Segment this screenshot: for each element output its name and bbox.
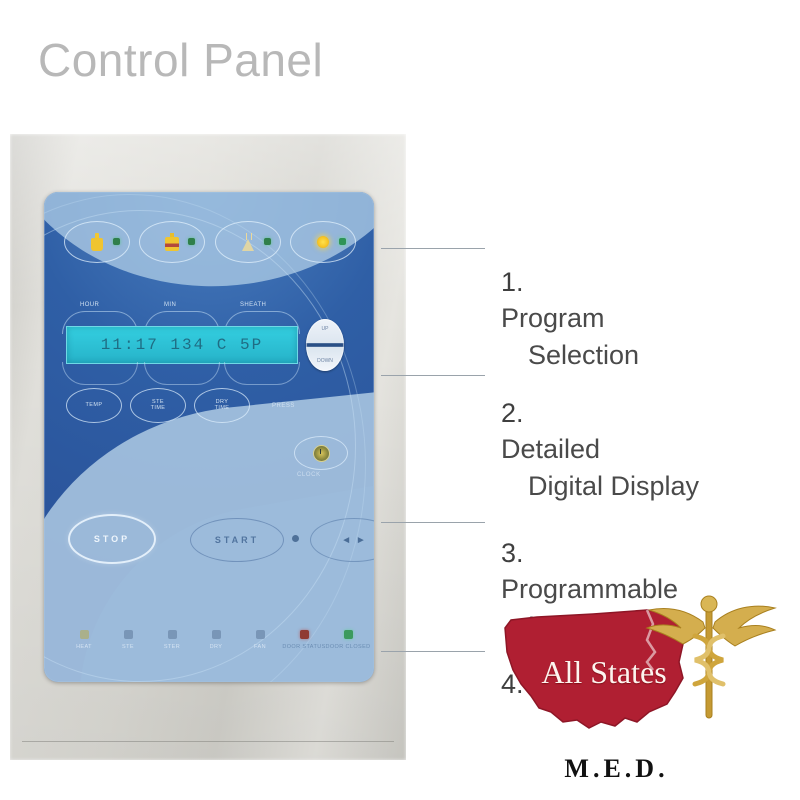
param-key-temp[interactable]: TEMP bbox=[66, 388, 122, 423]
up-down-rocker[interactable]: UP DOWN bbox=[306, 319, 344, 371]
arc-ste bbox=[144, 362, 220, 385]
status-led-ster bbox=[168, 630, 177, 639]
stop-button-label: STOP bbox=[94, 534, 130, 544]
status-led-fan bbox=[256, 630, 265, 639]
arrow-left-right-icon: ◄ ► bbox=[341, 535, 367, 546]
program-key-unwrapped[interactable] bbox=[64, 221, 130, 263]
status-led-ste bbox=[124, 630, 133, 639]
callout-2-number: 2. bbox=[501, 398, 524, 428]
callout-1-number: 1. bbox=[501, 267, 524, 297]
program-selection-row bbox=[64, 218, 356, 266]
parameter-keys-row: TEMP STE TIME DRY TIME PRESS bbox=[66, 388, 295, 423]
callout-2-text: Detailed bbox=[501, 434, 600, 464]
logo-brand-text: All States bbox=[509, 654, 699, 691]
display-label-sheath: SHEATH bbox=[240, 302, 266, 308]
status-led-dry bbox=[212, 630, 221, 639]
program-led-3 bbox=[264, 238, 271, 245]
flask-icon bbox=[241, 233, 255, 251]
wrapped-pouch-icon bbox=[165, 233, 179, 251]
control-keypad: HOUR MIN SHEATH 11:17 134 C 5P UP DOWN T… bbox=[44, 192, 374, 682]
status-led-door-closed bbox=[344, 630, 353, 639]
callout-3-number: 3. bbox=[501, 538, 524, 568]
program-key-wrapped[interactable] bbox=[139, 221, 205, 263]
display-label-min: MIN bbox=[164, 302, 176, 308]
status-indicator-strip: HEAT STE STER DRY FAN DOOR STATUS bbox=[58, 630, 370, 676]
program-key-drying[interactable] bbox=[290, 221, 356, 263]
arc-dry bbox=[224, 362, 300, 385]
param-key-dry-time[interactable]: DRY TIME bbox=[194, 388, 250, 423]
bezel-seam bbox=[22, 741, 394, 742]
param-key-dry-line2: TIME bbox=[215, 406, 230, 412]
status-led-door-status bbox=[300, 630, 309, 639]
param-key-ste-line2: TIME bbox=[151, 406, 166, 412]
page-title: Control Panel bbox=[38, 33, 323, 87]
param-key-ste-time[interactable]: STE TIME bbox=[130, 388, 186, 423]
rocker-down-label: DOWN bbox=[306, 358, 344, 364]
start-button-label: START bbox=[215, 535, 259, 545]
clock-icon bbox=[313, 445, 330, 462]
program-led-2 bbox=[188, 238, 195, 245]
press-label: PRESS bbox=[272, 403, 295, 409]
program-led-4 bbox=[339, 238, 346, 245]
brand-logo: All States M.E.D. bbox=[497, 592, 797, 797]
program-led-1 bbox=[113, 238, 120, 245]
clock-key[interactable] bbox=[294, 436, 348, 470]
logo-sub-text: M.E.D. bbox=[509, 754, 724, 784]
separator-dot bbox=[292, 535, 299, 542]
lcd-value: 11:17 134 C 5P bbox=[101, 336, 263, 354]
leader-line-2 bbox=[381, 375, 485, 376]
arc-temp bbox=[62, 362, 138, 385]
status-led-heat bbox=[80, 630, 89, 639]
param-key-temp-label: TEMP bbox=[86, 403, 103, 409]
callout-1-text: Program bbox=[501, 303, 605, 333]
leader-line-4 bbox=[381, 651, 485, 652]
rocker-up-label: UP bbox=[306, 326, 344, 332]
display-label-hour: HOUR bbox=[80, 302, 99, 308]
leader-line-3 bbox=[381, 522, 485, 523]
clock-key-label: CLOCK bbox=[297, 472, 321, 478]
program-key-glassware[interactable] bbox=[215, 221, 281, 263]
stop-button[interactable]: STOP bbox=[68, 514, 156, 564]
sun-icon bbox=[314, 233, 332, 251]
leader-line-1 bbox=[381, 248, 485, 249]
lcd-display: 11:17 134 C 5P bbox=[66, 326, 298, 364]
status-door-closed: DOOR CLOSED bbox=[322, 630, 374, 651]
status-label-door-closed: DOOR CLOSED bbox=[322, 644, 374, 651]
start-button[interactable]: START bbox=[190, 518, 284, 562]
bottle-icon bbox=[90, 233, 104, 251]
